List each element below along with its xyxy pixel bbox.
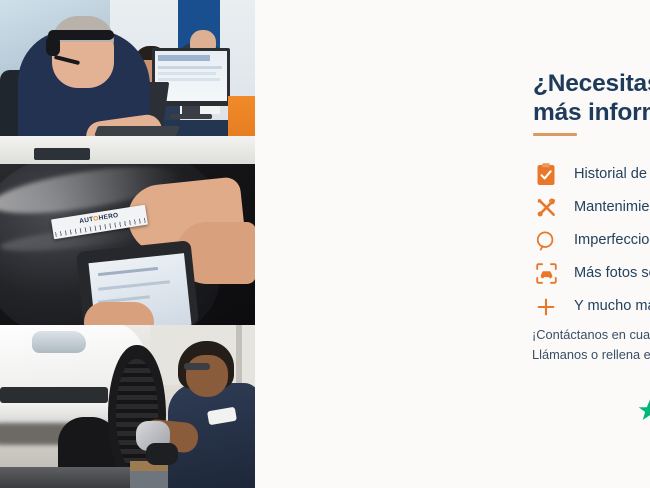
crossed-tools-icon xyxy=(533,195,559,221)
contact-line-2: Llámanos o rellena el formulario de cont… xyxy=(532,345,650,365)
title-divider xyxy=(533,133,577,136)
page-title-line-1: ¿Necesitas xyxy=(533,70,650,97)
trustpilot-logo[interactable]: Trustpilot xyxy=(638,398,650,422)
page-title: ¿Necesitas más información? xyxy=(533,70,650,128)
car-lift-platform xyxy=(0,467,130,488)
monitor-screen-bar xyxy=(158,55,210,61)
info-promo-card: AUTOHERO xyxy=(0,0,650,488)
car-photo-frame-icon xyxy=(533,261,559,287)
trustpilot-widget[interactable]: Trustpilot Excelente xyxy=(638,384,650,446)
car-headlight xyxy=(32,331,86,353)
feature-item-imperfecciones: Imperfecciones xyxy=(533,224,650,257)
feature-list: Historial de mantenimientos Mantenimient… xyxy=(533,158,650,323)
trustpilot-star-icon xyxy=(638,399,650,422)
headset-earpiece xyxy=(46,36,60,56)
feature-label: Y mucho más xyxy=(574,299,650,314)
mechanic-glove-second xyxy=(146,443,178,465)
car-grille xyxy=(0,387,108,403)
car-inspection-ruler-photo: AUTOHERO xyxy=(0,164,255,325)
call-center-agents-photo xyxy=(0,0,255,164)
contact-line-1: ¡Contáctanos en cualquier momento para m… xyxy=(532,325,650,345)
content-panel: ¿Necesitas más información? Estamos enca… xyxy=(255,0,650,488)
magnifier-icon xyxy=(533,228,559,254)
clipboard-check-icon xyxy=(533,162,559,188)
feature-label: Imperfecciones xyxy=(574,233,650,248)
monitor-screen-row xyxy=(158,72,216,75)
page-title-line-2: más información? xyxy=(533,99,650,126)
feature-item-fotos: Más fotos sobre el coche xyxy=(533,257,650,290)
feature-label: Mantenimiento realizado xyxy=(574,200,650,215)
photo-column: AUTOHERO xyxy=(0,0,255,488)
monitor-screen-row xyxy=(158,78,220,81)
feature-item-mas: Y mucho más xyxy=(533,290,650,323)
contact-text: ¡Contáctanos en cualquier momento para m… xyxy=(532,325,650,365)
feature-item-historial: Historial de mantenimientos xyxy=(533,158,650,191)
feature-label: Historial de mantenimientos xyxy=(574,167,650,182)
laptop-keyboard xyxy=(94,126,180,136)
monitor-screen-row xyxy=(158,66,222,69)
feature-item-mantenimiento: Mantenimiento realizado xyxy=(533,191,650,224)
mechanic-wheel-photo xyxy=(0,325,255,488)
feature-label: Más fotos sobre el coche xyxy=(574,266,650,281)
mechanic-face xyxy=(186,355,228,397)
monitor-base xyxy=(170,114,212,119)
safety-glasses xyxy=(184,363,210,370)
inspector-hand-lower xyxy=(84,302,154,325)
plus-icon xyxy=(533,294,559,320)
desk-tablet xyxy=(34,148,90,160)
